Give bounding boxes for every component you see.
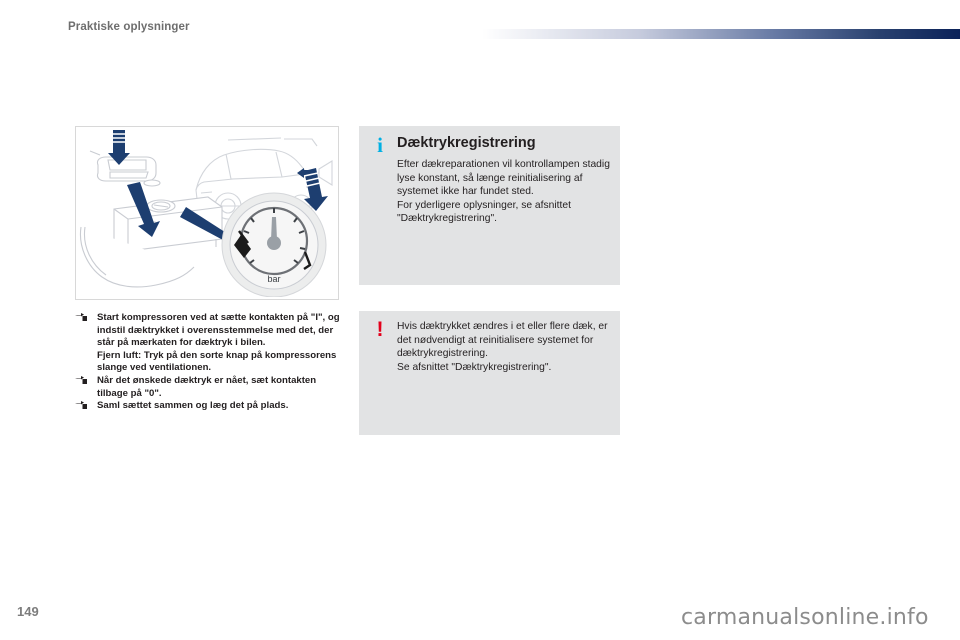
info-i-icon: i (371, 134, 389, 156)
step-note: Fjern luft: Tryk på den sorte knap på ko… (75, 350, 343, 375)
compressor-body-icon (80, 197, 222, 287)
step-text: Start kompressoren ved at sætte kontakte… (97, 312, 340, 348)
warning-paragraph: Se afsnittet "Dæktrykregistrering". (397, 361, 610, 375)
header-gradient-rule (482, 29, 960, 39)
arrow-down-onto-gauge-icon (304, 168, 328, 211)
compressor-kit-illustration: bar (75, 126, 339, 300)
gauge-unit-label: bar (267, 274, 280, 284)
info-callout-box: i Dæktrykregistrering Efter dækreparatio… (359, 126, 620, 285)
page-number: 149 (17, 604, 39, 619)
info-box-body: Efter dækreparationen vil kontrollampen … (397, 158, 610, 226)
hand-pointer-bullet-icon (75, 401, 89, 412)
warning-box-body: Hvis dæktrykket ændres i et eller flere … (397, 320, 610, 374)
instruction-step-list: Start kompressoren ved at sætte kontakte… (75, 312, 343, 413)
info-paragraph: Efter dækreparationen vil kontrollampen … (397, 158, 610, 199)
step-text: Når det ønskede dæktryk er nået, sæt kon… (97, 375, 316, 399)
hand-pointer-bullet-icon (75, 376, 89, 387)
list-item: Start kompressoren ved at sætte kontakte… (75, 312, 343, 350)
pressure-gauge-icon: bar (222, 193, 326, 297)
illustration-svg: bar (76, 127, 336, 297)
info-box-title: Dæktrykregistrering (397, 134, 610, 152)
warning-paragraph: Hvis dæktrykket ændres i et eller flere … (397, 320, 610, 361)
manual-page: Praktiske oplysninger (0, 0, 960, 640)
list-item: Når det ønskede dæktryk er nået, sæt kon… (75, 375, 343, 400)
step-text: Saml sættet sammen og læg det på plads. (97, 400, 288, 411)
exclamation-icon: ! (371, 319, 389, 341)
warning-callout-box: ! Hvis dæktrykket ændres i et eller fler… (359, 311, 620, 435)
site-watermark: carmanualsonline.info (681, 605, 929, 630)
hand-pointer-bullet-icon (75, 313, 89, 324)
info-paragraph: For yderligere oplysninger, se afsnittet… (397, 199, 610, 226)
page-section-title: Praktiske oplysninger (68, 21, 190, 33)
list-item: Saml sættet sammen og læg det på plads. (75, 400, 343, 413)
